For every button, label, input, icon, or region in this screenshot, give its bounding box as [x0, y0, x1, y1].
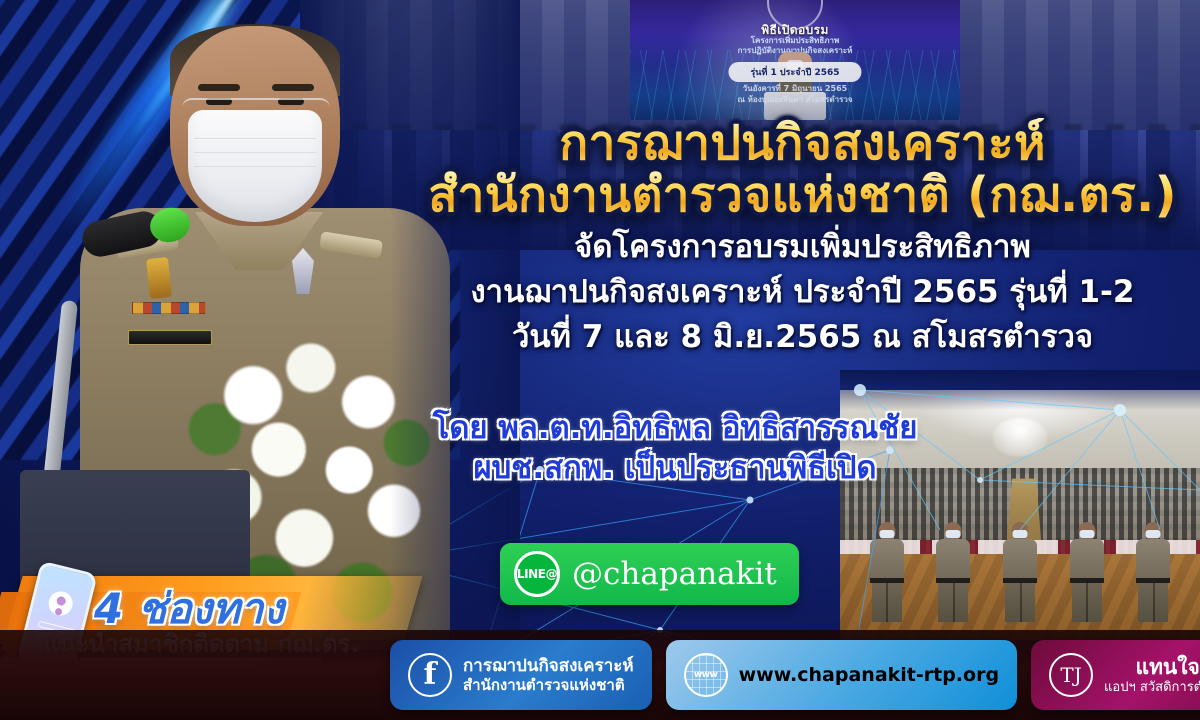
subhead-line-1: จัดโครงการอบรมเพิ่มประสิทธิภาพ [415, 228, 1190, 267]
speaker-eyebrow-right [272, 84, 314, 91]
app-contact-badge[interactable]: TJ แทนใจ แอปฯ สวัสดิการตำรวจ [1031, 640, 1200, 710]
facebook-badge-text: การฌาปนกิจสงเคราะห์ สำนักงานตำรวจแห่งชาต… [463, 656, 634, 694]
contact-badges-row: f การฌาปนกิจสงเคราะห์ สำนักงานตำรวจแห่งช… [390, 640, 1200, 710]
byline-block: โดย พล.ต.ท.อิทธิพล อิทธิสารรณชัย ผบช.สกพ… [330, 408, 1020, 489]
website-url-text: www.chapanakit-rtp.org [739, 664, 999, 686]
thanjai-app-icon: TJ [1049, 653, 1093, 697]
speaker-face-mask [188, 110, 322, 222]
facebook-page-title: การฌาปนกิจสงเคราะห์ [463, 656, 634, 676]
headline-block: การฌาปนกิจสงเคราะห์ สำนักงานตำรวจแห่งชาต… [415, 118, 1190, 357]
app-badge-text: แทนใจ แอปฯ สวัสดิการตำรวจ [1104, 655, 1200, 696]
globe-www-icon: www [684, 653, 728, 697]
app-tagline: แอปฯ สวัสดิการตำรวจ [1104, 680, 1200, 696]
speaker-photo [20, 0, 450, 640]
byline-line-1: โดย พล.ต.ท.อิทธิพล อิทธิสารรณชัย [330, 408, 1020, 448]
officer-figure [1067, 522, 1107, 622]
headline-gold-line-1: การฌาปนกิจสงเคราะห์ [415, 118, 1190, 170]
subhead-line-2: งานฌาปนกิจสงเคราะห์ ประจำปี 2565 รุ่นที่… [415, 273, 1190, 312]
phone-avatar-icon [46, 589, 75, 618]
facebook-contact-badge[interactable]: f การฌาปนกิจสงเคราะห์ สำนักงานตำรวจแห่งช… [390, 640, 652, 710]
speaker-eyebrow-left [198, 84, 240, 91]
website-contact-badge[interactable]: www www.chapanakit-rtp.org [666, 640, 1017, 710]
line-icon: LINE@ [514, 551, 560, 597]
line-contact-badge[interactable]: LINE@ @chapanakit [500, 543, 799, 605]
officer-figure [1000, 522, 1040, 622]
subhead-line-3: วันที่ 7 และ 8 มิ.ย.2565 ณ สโมสรตำรวจ [415, 318, 1190, 357]
byline-line-2: ผบช.สกพ. เป็นประธานพิธีเปิด [330, 448, 1020, 488]
app-name: แทนใจ [1104, 655, 1200, 680]
speaker-medal [146, 257, 172, 299]
facebook-page-subtitle: สำนักงานตำรวจแห่งชาติ [463, 676, 634, 694]
officer-figure [1133, 522, 1173, 622]
line-handle-text: @chapanakit [572, 559, 777, 590]
headline-gold-line-2: สำนักงานตำรวจแห่งชาติ (กฌ.ตร.) [415, 170, 1190, 222]
poster-canvas: 4 พิธีเปิดอบรม โครงการเพิ่มประสิทธิภาพ ก… [0, 0, 1200, 720]
facebook-icon: f [408, 653, 452, 697]
